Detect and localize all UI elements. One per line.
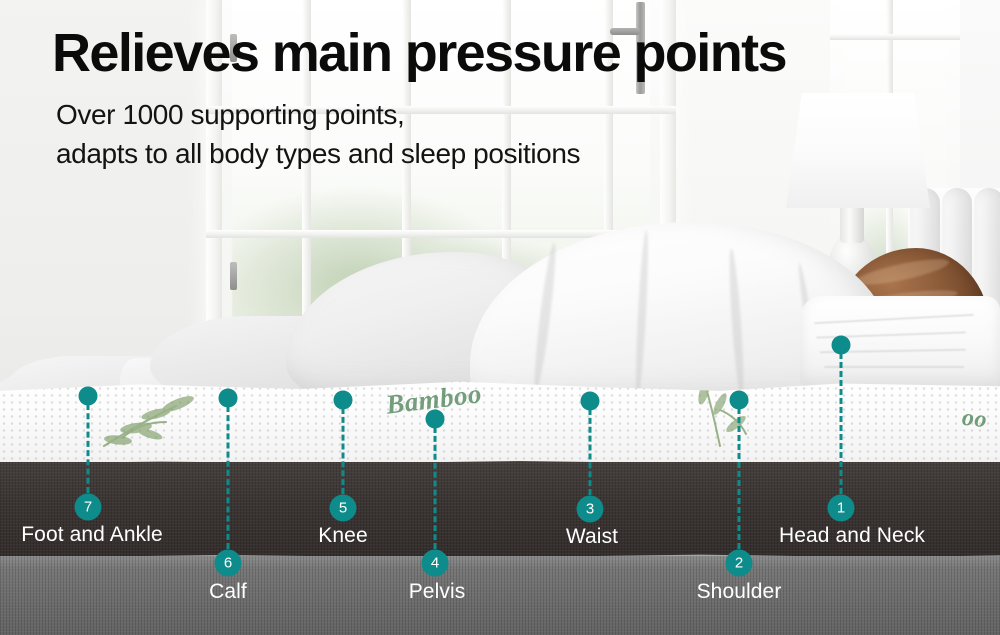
side-window-mullion	[830, 34, 960, 40]
callout-label-2: Shoulder	[697, 580, 782, 604]
mattress-top-cover: Bamboo oo	[0, 378, 1000, 470]
leader-line-2	[738, 408, 741, 549]
pressure-point-dot-2	[730, 391, 749, 410]
leader-line-1	[840, 353, 843, 494]
callout-badge-7[interactable]: 7	[75, 494, 102, 521]
pressure-point-dot-7	[79, 387, 98, 406]
bed-base-fabric-weave	[0, 556, 1000, 635]
callout-badge-6[interactable]: 6	[215, 550, 242, 577]
callout-label-3: Waist	[566, 525, 618, 549]
pillow-quilting	[824, 366, 964, 368]
duvet-crease	[531, 242, 559, 392]
leader-line-5	[342, 408, 345, 494]
leader-line-4	[434, 427, 437, 549]
page-subtitle: Over 1000 supporting points, adapts to a…	[56, 96, 580, 173]
door-hinge	[230, 262, 237, 290]
callout-badge-3[interactable]: 3	[577, 496, 604, 523]
callout-label-5: Knee	[318, 524, 367, 548]
table-lamp-shade	[786, 93, 930, 208]
pressure-point-dot-3	[581, 392, 600, 411]
callout-badge-5[interactable]: 5	[330, 495, 357, 522]
lamp-neck	[840, 205, 864, 243]
callout-label-6: Calf	[209, 580, 247, 604]
pressure-point-dot-4	[426, 410, 445, 429]
marketing-banner: Bamboo oo Relieves main pressure points …	[0, 0, 1000, 635]
bed-base	[0, 556, 1000, 635]
callout-badge-2[interactable]: 2	[726, 550, 753, 577]
bamboo-pillow	[800, 296, 1000, 386]
callout-label-7: Foot and Ankle	[21, 523, 163, 547]
pillow-quilting	[814, 314, 974, 324]
bamboo-brand-print-right: oo	[961, 405, 989, 434]
duvet-crease	[634, 230, 651, 398]
callout-label-1: Head and Neck	[779, 524, 925, 548]
mattress-knit-texture	[0, 378, 1000, 470]
pressure-point-dot-6	[219, 389, 238, 408]
leader-line-6	[227, 406, 230, 549]
pressure-point-dot-1	[832, 336, 851, 355]
callout-label-4: Pelvis	[409, 580, 466, 604]
duvet-crease	[727, 248, 746, 398]
pressure-point-dot-5	[334, 391, 353, 410]
leader-line-3	[589, 409, 592, 495]
page-title: Relieves main pressure points	[52, 26, 786, 81]
leader-line-7	[87, 404, 90, 493]
callout-badge-1[interactable]: 1	[828, 495, 855, 522]
callout-badge-4[interactable]: 4	[422, 550, 449, 577]
